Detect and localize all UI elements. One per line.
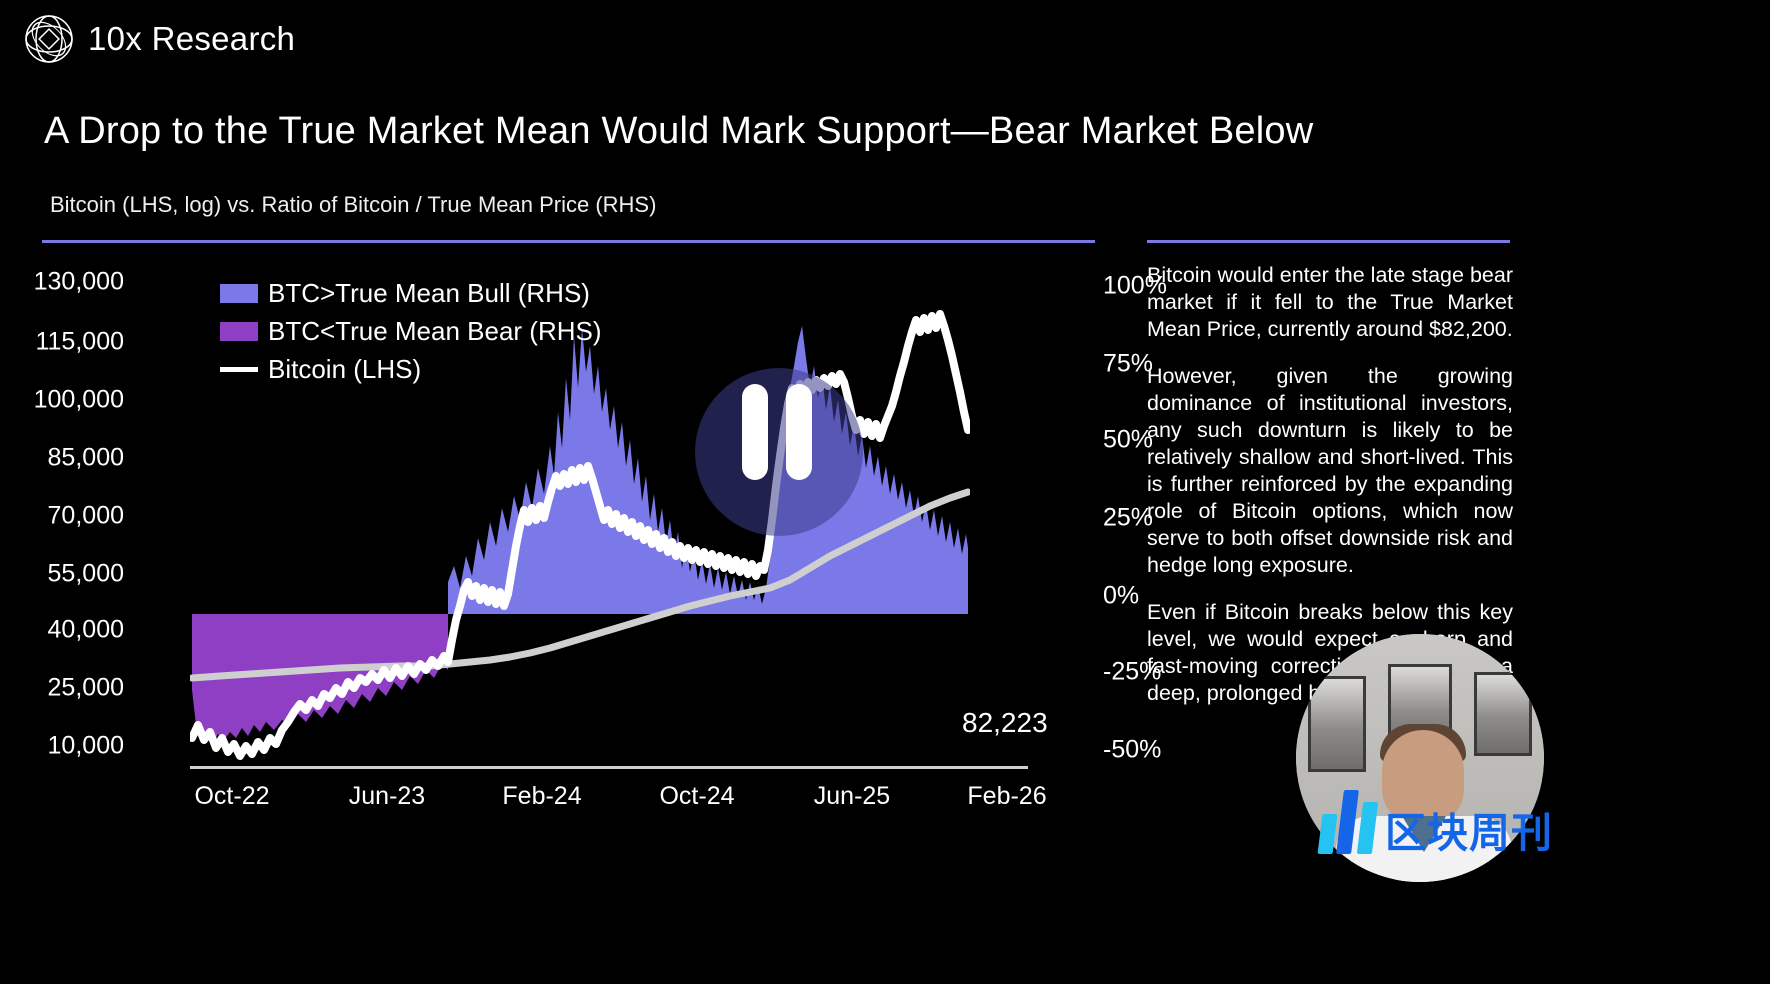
y-tick: 25,000 bbox=[48, 674, 124, 703]
pause-bar-right bbox=[786, 384, 812, 480]
pause-bar-left bbox=[742, 384, 768, 480]
y-tick: 100,000 bbox=[34, 386, 124, 415]
page-subtitle: Bitcoin (LHS, log) vs. Ratio of Bitcoin … bbox=[50, 192, 656, 218]
y-tick: 130,000 bbox=[34, 268, 124, 297]
y-tick: 85,000 bbox=[48, 444, 124, 473]
wall-picture-frame bbox=[1474, 672, 1532, 756]
brand-header: 10x Research bbox=[24, 14, 295, 64]
legend-item-bitcoin: Bitcoin (LHS) bbox=[220, 350, 602, 388]
10x-diamond-logo-icon bbox=[24, 14, 74, 64]
brand-name: 10x Research bbox=[88, 20, 295, 58]
pause-icon[interactable] bbox=[742, 384, 812, 480]
x-tick: Jun-25 bbox=[814, 782, 890, 811]
legend-label-bear: BTC<True Mean Bear (RHS) bbox=[268, 316, 602, 347]
y-tick: 115,000 bbox=[35, 328, 124, 357]
watermark-bar bbox=[1318, 814, 1338, 854]
legend-swatch-bull-icon bbox=[220, 284, 258, 303]
y-tick: 70,000 bbox=[48, 502, 124, 531]
chart-divider bbox=[42, 240, 1095, 243]
x-tick: Feb-24 bbox=[502, 782, 581, 811]
slide-root: 10x Research A Drop to the True Market M… bbox=[0, 0, 1770, 984]
legend-item-bull: BTC>True Mean Bull (RHS) bbox=[220, 274, 602, 312]
x-tick: Oct-22 bbox=[194, 782, 269, 811]
page-title: A Drop to the True Market Mean Would Mar… bbox=[44, 110, 1313, 153]
channel-watermark: 区块周刊 bbox=[1320, 790, 1553, 854]
legend-label-bitcoin: Bitcoin (LHS) bbox=[268, 354, 421, 385]
y2-tick: 0% bbox=[1103, 582, 1139, 611]
value-callout: 82,223 bbox=[962, 707, 1048, 739]
y2-tick: 50% bbox=[1103, 426, 1153, 455]
x-axis-line bbox=[190, 766, 1028, 769]
commentary-paragraph: Bitcoin would enter the late stage bear … bbox=[1147, 262, 1513, 343]
watermark-text: 区块周刊 bbox=[1385, 813, 1553, 854]
x-tick: Oct-24 bbox=[659, 782, 734, 811]
chart-panel: 130,000 115,000 100,000 85,000 70,000 55… bbox=[42, 252, 1142, 852]
watermark-bar bbox=[1336, 790, 1359, 854]
chart-legend: BTC>True Mean Bull (RHS) BTC<True Mean B… bbox=[220, 274, 602, 388]
y2-tick: 25% bbox=[1103, 504, 1153, 533]
y-tick: 55,000 bbox=[48, 560, 124, 589]
commentary-paragraph: However, given the growing dominance of … bbox=[1147, 363, 1513, 579]
x-tick: Jun-23 bbox=[349, 782, 425, 811]
y-tick: 40,000 bbox=[48, 616, 124, 645]
watermark-bar bbox=[1357, 802, 1378, 854]
legend-item-bear: BTC<True Mean Bear (RHS) bbox=[220, 312, 602, 350]
legend-swatch-bear-icon bbox=[220, 322, 258, 341]
y2-tick: -50% bbox=[1103, 736, 1161, 765]
legend-line-bitcoin-icon bbox=[220, 367, 258, 372]
commentary-divider bbox=[1147, 240, 1510, 243]
wall-picture-frame bbox=[1308, 676, 1366, 772]
y2-tick: 75% bbox=[1103, 350, 1153, 379]
watermark-bars-icon bbox=[1320, 790, 1375, 854]
legend-label-bull: BTC>True Mean Bull (RHS) bbox=[268, 278, 590, 309]
x-tick: Feb-26 bbox=[967, 782, 1046, 811]
y-tick: 10,000 bbox=[48, 732, 124, 761]
